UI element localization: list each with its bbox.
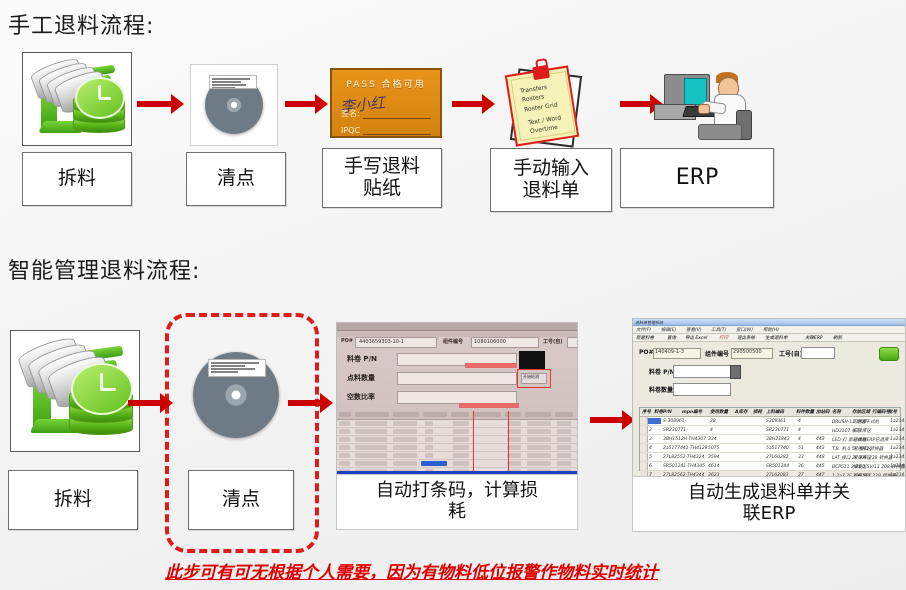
smart-step-3-label-line2: 耗 (448, 502, 466, 523)
manual-step-4-image: Transfers Rosters Roster Grid Text / Wor… (498, 58, 602, 148)
manual-arrow-1 (137, 94, 185, 114)
app-row-label-qty: 料卷数量 (649, 385, 673, 394)
table-row[interactable] (337, 436, 577, 444)
clipboard-clip-icon (532, 65, 550, 80)
cell-pn: SR501241-TH4305 (663, 464, 705, 469)
manual-step-5-image (640, 52, 772, 148)
table-row-selected[interactable] (337, 460, 577, 468)
cell-area: 可用库区 (853, 446, 871, 452)
cell-no: 2 (649, 428, 652, 433)
cell-amt: 4 (798, 437, 801, 442)
menu-item-tools[interactable]: 工具(T) (711, 327, 726, 333)
manual-step-3-image: PASS 合格可用 李小红 签名: IPQC 签名: (330, 68, 442, 138)
cell-lot: 1a2341 (890, 446, 905, 451)
manual-step-2-label: 清点 (186, 152, 286, 206)
reel-label (209, 75, 257, 89)
cell-no: 5 (649, 455, 652, 460)
col-amount: 料件数量 (796, 409, 814, 415)
col-lot: 批号 (888, 409, 897, 415)
smart-arrow-2 (288, 393, 334, 413)
smart-step-4-label-line2: 联ERP (743, 504, 796, 525)
app-data-grid[interactable] (337, 411, 577, 471)
manual-step-2-image (190, 64, 278, 146)
menu-item-file[interactable]: 文件(F) (636, 327, 651, 333)
manual-step-1-label: 拆料 (22, 152, 132, 206)
col-code: 上料编码 (766, 409, 784, 415)
app-menubar[interactable]: 文件(F) 编辑(E) 查看(V) 工具(T) 窗口(W) 帮助(H) (633, 326, 905, 334)
cell-loss: 443 (816, 437, 825, 442)
toolbar-item-print[interactable]: 打印 (719, 335, 728, 341)
cell-pn: S-308961- (663, 419, 686, 424)
table-row[interactable]: 5 27L82552-TH4324 3594 27L60282 33 448 L… (640, 453, 900, 462)
cell-pn: 3BH1512H-TH4307 (663, 437, 706, 442)
section-title-manual-flow: 手工退料流程: (8, 8, 154, 40)
app-worker-field[interactable] (567, 337, 577, 348)
footer-annotation: 此步可有可无根据个人需要，因为有物料低位报警作物料实时统计 (165, 558, 905, 583)
smart-arrow-3 (590, 410, 636, 430)
reel-disc-icon (186, 345, 286, 445)
cell-code: S309361 (766, 419, 786, 424)
smart-step-3-label-line1: 自动打条码，计算损 (376, 481, 538, 502)
cell-qty: 4 (710, 428, 713, 433)
smart-step-4-label: 自动生成退料单并关 联ERP (632, 476, 906, 532)
toolbar-item-export[interactable]: 导出 Excel (685, 335, 707, 341)
app-po-value: 140409-1-3 (655, 349, 684, 355)
toolbar-item-generate[interactable]: 生成退料单 (765, 335, 788, 341)
menu-item-view[interactable]: 查看(V) (686, 327, 702, 333)
cell-pn: 27L82552-TH4324 (663, 455, 704, 460)
app-row-input-pn[interactable] (673, 365, 731, 378)
cell-lot: 1a2341 (890, 455, 905, 460)
app-part-value: 290500500 (733, 349, 762, 355)
menu-item-window[interactable]: 窗口(W) (736, 327, 753, 333)
app-field-label-part: 组件编号 (443, 338, 463, 345)
col-mpn: mpn编号 (682, 409, 702, 415)
manual-step-4-label-line1: 手动输入 (513, 158, 589, 180)
app-row-input-qty[interactable] (673, 383, 731, 396)
col-stock: A库存 (735, 409, 747, 415)
pass-sticker-icon: PASS 合格可用 李小红 签名: IPQC 签名: (331, 69, 441, 137)
toolbar-item-exit[interactable]: 退出系统 (737, 335, 755, 341)
menu-item-help[interactable]: 帮助(H) (763, 327, 779, 333)
database-stack-icon (23, 53, 131, 145)
cell-code: 3BH21843 (766, 437, 790, 442)
smart-step-3-label: 自动打条码，计算损 耗 (336, 474, 578, 530)
manual-arrow-3 (452, 94, 497, 114)
manual-step-5-label: ERP (620, 148, 774, 208)
cell-lot: 1a2341 (890, 464, 905, 469)
app-row-label-pn: 料卷 P/N (347, 354, 377, 364)
app-start-button-label: 开始检测 (523, 374, 539, 380)
cell-amt: 4 (798, 428, 801, 433)
col-station: 加站码 (816, 409, 830, 415)
app-part-value: 1080106000 (474, 339, 506, 345)
menu-item-edit[interactable]: 编辑(E) (661, 327, 676, 333)
app-toolbar[interactable]: 新建料卷 查询 导出 Excel 打印 退出系统 生成退料单 关联ERP 刷新 (633, 334, 905, 342)
toolbar-item-refresh[interactable]: 刷新 (833, 335, 842, 341)
app-field-label-po: PO# (341, 338, 353, 344)
app-red-highlight (465, 363, 517, 368)
table-row[interactable] (337, 428, 577, 436)
sticker-title: PASS 合格可用 (341, 77, 431, 90)
manual-step-4-label: 手动输入 退料单 (490, 148, 612, 212)
app-worker-field[interactable] (801, 347, 835, 359)
app-titlebar: 退料单管理系统 (633, 319, 905, 326)
table-row[interactable] (337, 420, 577, 428)
cell-code: 5a517740 (766, 446, 789, 451)
col-no: 序号 (642, 409, 651, 415)
app-field-label-part: 组件编号 (705, 349, 729, 358)
section-title-smart-flow: 智能管理退料流程: (8, 253, 200, 285)
cell-mpn: 334 (708, 437, 717, 442)
table-row[interactable] (337, 444, 577, 452)
sticker-row: 签名: (341, 136, 431, 138)
app-grid-header: 序号 料卷P/N mpn编号 使用数量 A库存 损耗 上料编码 料件数量 加站码… (640, 408, 900, 417)
cell-amt: 4 (798, 419, 801, 424)
toolbar-item-link-erp[interactable]: 关联ERP (805, 335, 823, 341)
app-row-label-qty: 点料数量 (347, 373, 375, 383)
cell-area: 可用库 (853, 419, 867, 425)
database-stack-icon (11, 331, 139, 451)
col-area: 存放区域 (852, 409, 870, 415)
app-field-label-po: PO# (639, 349, 654, 356)
cell-lot: 1a2341 (890, 419, 905, 424)
cell-area: 已关联ERP已退库 (853, 437, 889, 443)
cell-loss: 448 (816, 455, 825, 460)
app-field-label-worker: 工号(自) (543, 338, 563, 345)
app-row-label-ratio: 空数比率 (347, 392, 375, 402)
app-scan-preview (519, 351, 545, 369)
cell-pn: SR230771- (663, 428, 688, 433)
app-action-button[interactable] (879, 347, 899, 361)
cell-pn: 2a5177441-TH4129 (663, 446, 708, 451)
smart-arrow-1 (128, 393, 174, 413)
barcode-app-screenshot: PO# 4403659303-10-1 组件编号 1080106000 工号(自… (337, 323, 577, 475)
smart-step-2-label: 清点 (188, 470, 294, 530)
person-at-computer-icon (640, 52, 772, 148)
table-row[interactable]: 6 SR501241-TH4305 4614 SR501244 36 445 B… (640, 462, 900, 471)
cell-loss: 443 (816, 446, 825, 451)
app-field-label-worker: 工号(自) (779, 349, 803, 358)
cell-lot: 1a2341 (890, 437, 905, 442)
col-name: 名称 (832, 409, 841, 415)
cell-qty: 28 (710, 419, 716, 424)
erp-app-screenshot: 退料单管理系统 文件(F) 编辑(E) 查看(V) 工具(T) 窗口(W) 帮助… (633, 319, 905, 477)
reel-disc-icon (191, 65, 277, 145)
table-row[interactable]: 4 2a5177441-TH4129 5075 5a517740 51 443 … (640, 444, 900, 453)
cell-area: 可用库区 (853, 455, 871, 461)
smart-step-2-image (186, 345, 286, 445)
smart-step-4-image: 退料单管理系统 文件(F) 编辑(E) 查看(V) 工具(T) 窗口(W) 帮助… (632, 318, 906, 478)
cell-amt: 51 (798, 446, 804, 451)
reel-label (208, 359, 266, 377)
cell-code: SR501244 (766, 464, 789, 469)
cell-code: SR230771 (766, 428, 789, 433)
cell-area: 只读库区 (853, 428, 871, 434)
cell-lot: 1a2341 (890, 428, 905, 433)
slide-root: 手工退料流程: 拆料 (0, 0, 906, 590)
selected-cell[interactable] (648, 418, 661, 424)
cell-amt: 36 (798, 464, 804, 469)
cell-loss: 445 (816, 464, 825, 469)
manual-step-4-label-line2: 退料单 (522, 180, 579, 202)
app-row-input-qty[interactable] (397, 372, 517, 385)
table-row[interactable] (337, 452, 577, 460)
cell-no: 6 (649, 464, 652, 469)
cell-mpn: 5075 (708, 446, 719, 451)
cell-area: 报废区 (853, 464, 867, 470)
toolbar-item-query[interactable]: 查询 (667, 335, 676, 341)
smart-step-1-image (10, 330, 140, 452)
app-pn-lookup-button[interactable] (730, 365, 741, 379)
app-data-grid[interactable]: 序号 料卷P/N mpn编号 使用数量 A库存 损耗 上料编码 料件数量 加站码… (639, 407, 901, 471)
manual-arrow-2 (285, 94, 330, 114)
manual-step-1-image (22, 52, 132, 146)
cell-mpn: 4614 (708, 464, 719, 469)
cell-no: 4 (649, 446, 652, 451)
sticker-row: IPQC (341, 126, 431, 135)
highlighted-column (473, 411, 509, 471)
manual-step-3-label: 手写退料 贴纸 (322, 148, 442, 208)
manual-step-3-label-line2: 贴纸 (363, 178, 401, 200)
col-qty: 使用数量 (710, 409, 728, 415)
sticker-row-label: 签名: (341, 136, 360, 138)
smart-step-4-label-line1: 自动生成退料单并关 (688, 483, 850, 504)
cell-code: 27L60282 (766, 455, 789, 460)
smart-step-1-label: 拆料 (8, 470, 138, 530)
clipboard-icon: Transfers Rosters Roster Grid Text / Wor… (498, 58, 602, 148)
app-red-highlight (459, 403, 519, 408)
smart-step-3-image: PO# 4403659303-10-1 组件编号 1080106000 工号(自… (336, 322, 578, 476)
app-row-label-pn: 料卷 P/N (649, 367, 675, 376)
app-grid-header (337, 411, 577, 420)
toolbar-item-new[interactable]: 新建料卷 (636, 335, 654, 341)
cell-mpn: 3594 (708, 455, 719, 460)
cell-no: 3 (649, 437, 652, 442)
col-pn: 料卷P/N (654, 409, 672, 415)
app-po-value: 4403659303-10-1 (359, 339, 404, 345)
app-titlebar (337, 323, 577, 331)
table-row[interactable]: 2 SR230771- 4 SR230771 4 HD3107 板芯 只读库区 … (640, 426, 900, 435)
col-loss: 损耗 (753, 409, 762, 415)
table-row[interactable]: 3 3BH1512H-TH4307 334 3BH21843 4 443 LED… (640, 435, 900, 444)
manual-step-3-label-line1: 手写退料 (344, 156, 420, 178)
table-row[interactable]: S-308961- 28 S309361 4 BRUSH-11 耐温干式机 可用… (640, 417, 900, 426)
sticker-row-label: IPQC (341, 126, 360, 135)
cell-amt: 33 (798, 455, 804, 460)
